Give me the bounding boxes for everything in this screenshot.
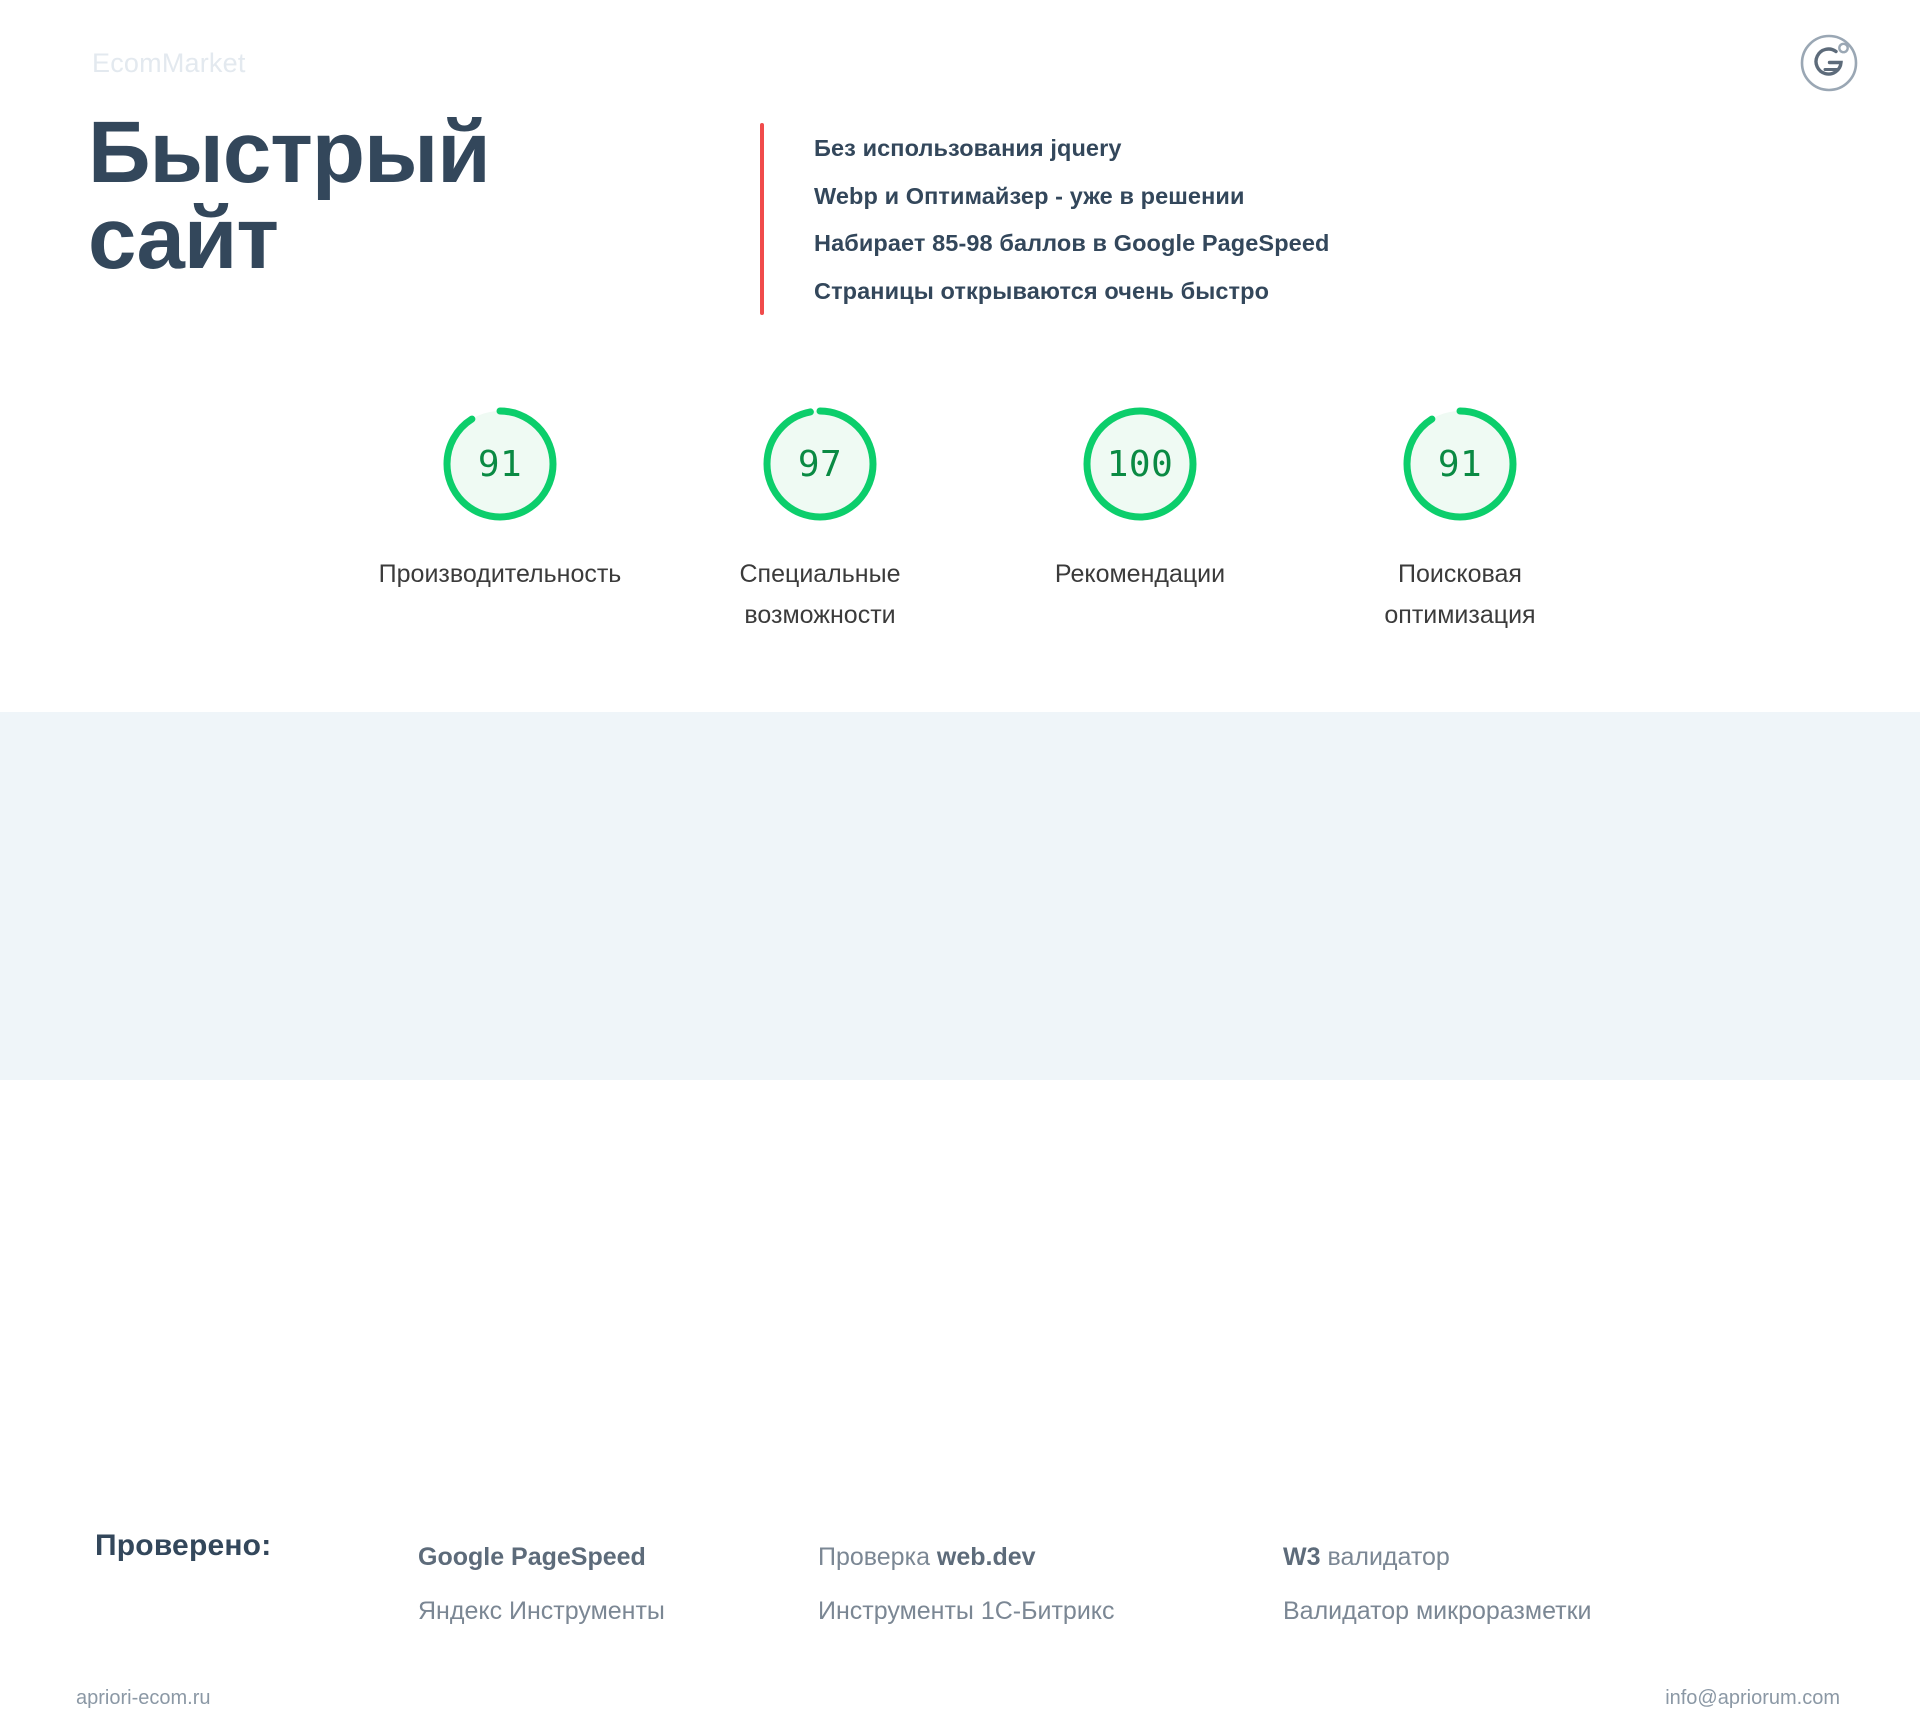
- gauge-label: Специальные возможности: [690, 554, 950, 635]
- gauge-value: 91: [436, 400, 564, 528]
- validator-text-plain: Валидатор микроразметки: [1283, 1597, 1592, 1625]
- gauge-ring-seo: 91: [1396, 400, 1524, 528]
- contact-email[interactable]: info@apriorum.com: [1665, 1687, 1840, 1710]
- validator-text-plain: Яндекс Инструменты: [418, 1597, 665, 1625]
- feature-item: Набирает 85-98 баллов в Google PageSpeed: [814, 220, 1329, 268]
- accent-rule: [760, 123, 764, 315]
- pagespeed-gauges: 91 Производительность 97 Специальные воз…: [340, 400, 1620, 670]
- checked-by-label: Проверено:: [95, 1529, 271, 1563]
- gauge-performance: 91 Производительность: [340, 400, 660, 595]
- validators-column-2: Проверка web.dev Инструменты 1С-Битрикс: [818, 1530, 1283, 1638]
- page-title: Быстрый сайт: [88, 110, 728, 282]
- validator-item[interactable]: Инструменты 1С-Битрикс: [818, 1584, 1283, 1638]
- gauge-label: Поисковая оптимизация: [1330, 554, 1590, 635]
- feature-item: Webp и Оптимайзер - уже в решении: [814, 173, 1329, 221]
- validators-columns: Google PageSpeed Яндекс Инструменты Пров…: [418, 1530, 1703, 1638]
- gauge-label: Производительность: [379, 554, 622, 595]
- validator-item[interactable]: Яндекс Инструменты: [418, 1584, 818, 1638]
- gauge-seo: 91 Поисковая оптимизация: [1300, 400, 1620, 635]
- validator-text-bold: W3: [1283, 1543, 1321, 1571]
- validator-text-bold: Google PageSpeed: [418, 1543, 646, 1571]
- gauge-ring-best-practices: 100: [1076, 400, 1204, 528]
- validator-item[interactable]: Проверка web.dev: [818, 1530, 1283, 1584]
- brand-watermark: EcomMarket: [92, 48, 246, 79]
- validator-item[interactable]: Валидатор микроразметки: [1283, 1584, 1703, 1638]
- cart-circle-logo-icon: [1796, 28, 1862, 94]
- validator-text-bold: web.dev: [937, 1543, 1036, 1571]
- slide-root: EcomMarket Быстрый сайт Без использовани…: [0, 0, 1920, 1080]
- validators-column-1: Google PageSpeed Яндекс Инструменты: [418, 1530, 818, 1638]
- top-section: EcomMarket Быстрый сайт Без использовани…: [0, 0, 1920, 712]
- gauge-value: 100: [1076, 400, 1204, 528]
- site-url[interactable]: apriori-ecom.ru: [76, 1687, 210, 1710]
- validator-text-plain: Проверка: [818, 1543, 937, 1571]
- gauge-label: Рекомендации: [1055, 554, 1225, 595]
- validators-column-3: W3 валидатор Валидатор микроразметки: [1283, 1530, 1703, 1638]
- validator-item[interactable]: Google PageSpeed: [418, 1530, 818, 1584]
- validator-item[interactable]: W3 валидатор: [1283, 1530, 1703, 1584]
- feature-item: Без использования jquery: [814, 125, 1329, 173]
- footer-panel: Проверено: Google PageSpeed Яндекс Инстр…: [0, 712, 1920, 1080]
- gauge-best-practices: 100 Рекомендации: [980, 400, 1300, 595]
- gauge-ring-performance: 91: [436, 400, 564, 528]
- page-title-line-1: Быстрый: [88, 110, 728, 196]
- gauge-ring-accessibility: 97: [756, 400, 884, 528]
- gauge-value: 91: [1396, 400, 1524, 528]
- gauge-accessibility: 97 Специальные возможности: [660, 400, 980, 635]
- validator-text-tail: валидатор: [1321, 1543, 1450, 1571]
- feature-item: Страницы открываются очень быстро: [814, 268, 1329, 316]
- gauge-value: 97: [756, 400, 884, 528]
- feature-list: Без использования jquery Webp и Оптимайз…: [760, 123, 1329, 315]
- validator-text-plain: Инструменты 1С-Битрикс: [818, 1597, 1115, 1625]
- page-title-line-2: сайт: [88, 196, 728, 282]
